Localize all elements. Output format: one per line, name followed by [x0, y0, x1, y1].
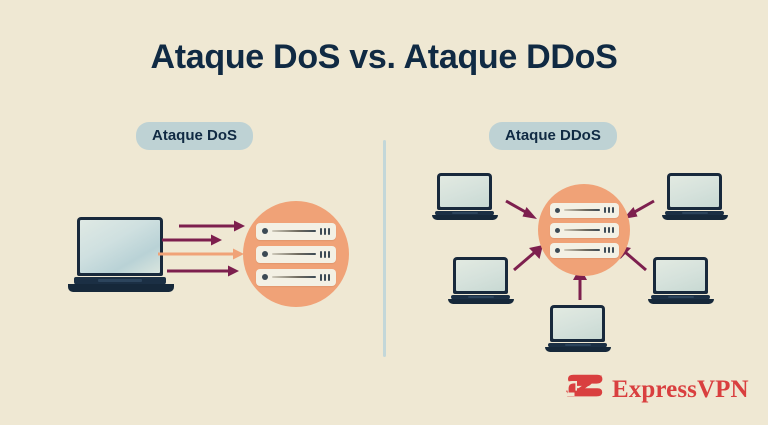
page-title: Ataque DoS vs. Ataque DDoS: [0, 38, 768, 77]
server-line: [564, 209, 600, 211]
vertical-divider: [383, 140, 386, 357]
server-bars-icon: [320, 274, 330, 281]
server-line: [272, 230, 316, 232]
arrow-traffic-1: [179, 221, 245, 232]
server-bars-icon: [604, 227, 614, 233]
badge-ataque-ddos: Ataque DDoS: [489, 122, 617, 150]
arrow-traffic-2: [162, 235, 222, 246]
server-led-icon: [262, 251, 268, 257]
infographic-canvas: Ataque DoS vs. Ataque DDoS Ataque DoS: [0, 0, 768, 425]
server-line: [564, 229, 600, 231]
server-led-icon: [555, 208, 560, 213]
server-bars-icon: [320, 228, 330, 235]
arrow-traffic-4: [167, 266, 239, 277]
server-target-ddos: [538, 184, 630, 276]
server-led-icon: [262, 274, 268, 280]
expressvpn-logo: ExpressVPN: [565, 374, 749, 404]
expressvpn-wordmark: ExpressVPN: [612, 377, 749, 402]
server-target-dos: [243, 201, 349, 307]
server-line: [564, 249, 600, 251]
server-line: [272, 276, 316, 278]
arrow-botnet-top-left: [506, 201, 537, 219]
laptop-trackpad: [98, 279, 142, 282]
server-rack-unit: [256, 269, 336, 286]
server-rack-unit: [550, 203, 619, 218]
arrow-traffic-3-highlight: [158, 249, 244, 260]
server-line: [272, 253, 316, 255]
arrow-botnet-middle-left: [514, 245, 543, 270]
server-bars-icon: [604, 207, 614, 213]
server-bars-icon: [320, 251, 330, 258]
server-rack-unit: [550, 243, 619, 258]
server-led-icon: [555, 228, 560, 233]
badge-ataque-dos: Ataque DoS: [136, 122, 253, 150]
laptop-screen: [80, 220, 160, 273]
traffic-arrows-dos: [150, 215, 255, 285]
server-rack-unit: [256, 223, 336, 240]
server-bars-icon: [604, 247, 614, 253]
server-rack-unit: [550, 223, 619, 238]
expressvpn-e-mark-icon: [565, 374, 603, 404]
server-led-icon: [262, 228, 268, 234]
server-led-icon: [555, 248, 560, 253]
laptop-foot: [68, 284, 174, 292]
server-rack-unit: [256, 246, 336, 263]
